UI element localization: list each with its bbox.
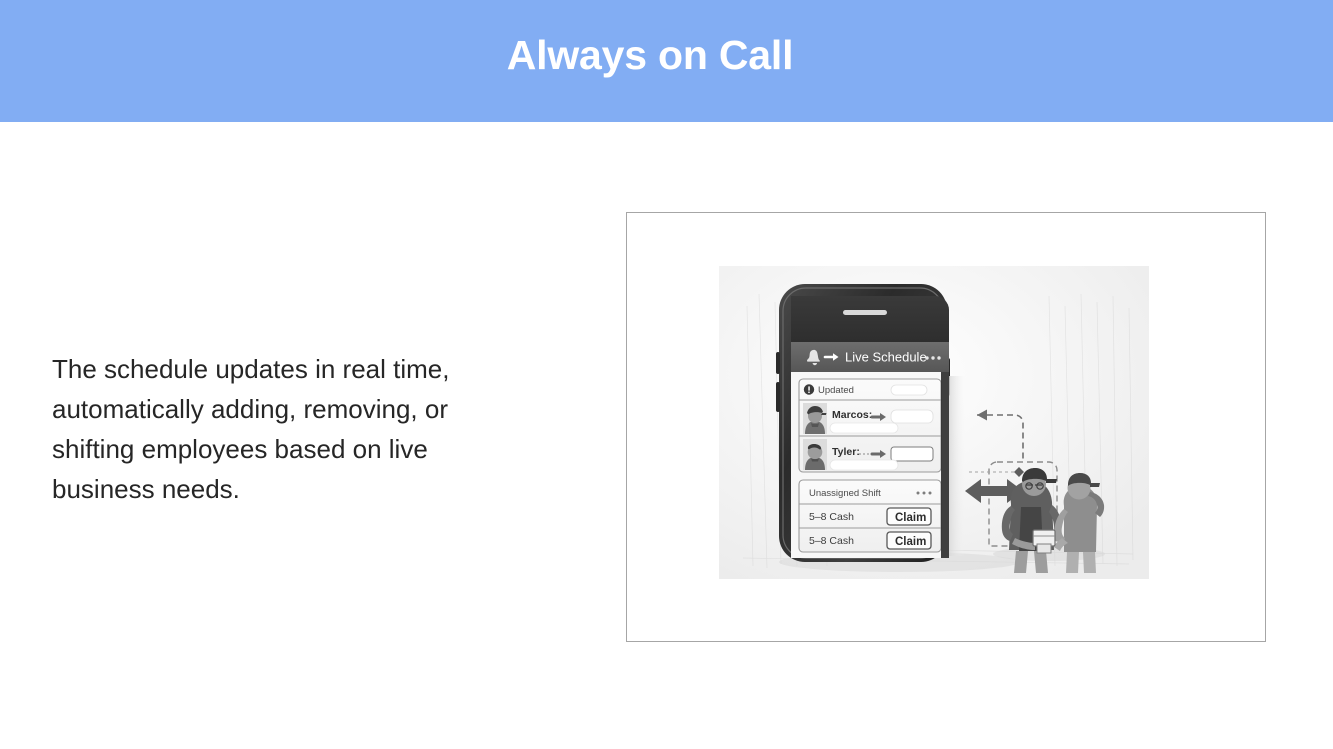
ellipsis-icon[interactable] — [925, 356, 940, 359]
phone-mockup: Live Schedule — [776, 284, 965, 562]
unassigned-shift-card: Unassigned Shift 5–8 Cash Claim 5–8 Cash — [799, 480, 941, 552]
shift-label: 5–8 Cash — [809, 511, 854, 523]
phone-volume-down-button — [776, 382, 780, 412]
app-bar: Live Schedule — [791, 342, 949, 372]
employee-name: Marcos: — [832, 409, 872, 421]
phone-volume-button — [776, 352, 780, 374]
phone-speaker — [843, 310, 887, 315]
illustration-frame: Live Schedule — [626, 212, 1266, 642]
notice-placeholder-pill — [891, 385, 927, 395]
exclamation-circle-icon — [804, 384, 814, 394]
shift-label: 5–8 Cash — [809, 535, 854, 547]
avatar — [803, 439, 827, 470]
row-subtext-placeholder — [830, 423, 898, 433]
sketch-illustration: Live Schedule — [719, 266, 1149, 579]
employee-name: Tyler: — [832, 446, 860, 458]
notice-label: Updated — [818, 385, 854, 396]
page-title: Always on Call — [0, 33, 1300, 78]
body-paragraph: The schedule updates in real time, autom… — [52, 349, 532, 509]
ellipsis-icon[interactable] — [917, 492, 932, 495]
slide-header-band: Always on Call — [0, 0, 1333, 122]
card-header-label: Unassigned Shift — [809, 488, 881, 499]
row-subtext-placeholder — [830, 460, 898, 470]
row-input-field[interactable] — [891, 447, 933, 461]
sketch-vector: Live Schedule — [719, 266, 1149, 579]
row-value-placeholder — [891, 410, 933, 423]
claim-button-label: Claim — [895, 536, 926, 548]
avatar — [803, 403, 827, 434]
claim-button-label: Claim — [895, 512, 926, 524]
app-bar-title: Live Schedule — [845, 350, 927, 365]
schedule-card: Updated — [799, 379, 941, 472]
